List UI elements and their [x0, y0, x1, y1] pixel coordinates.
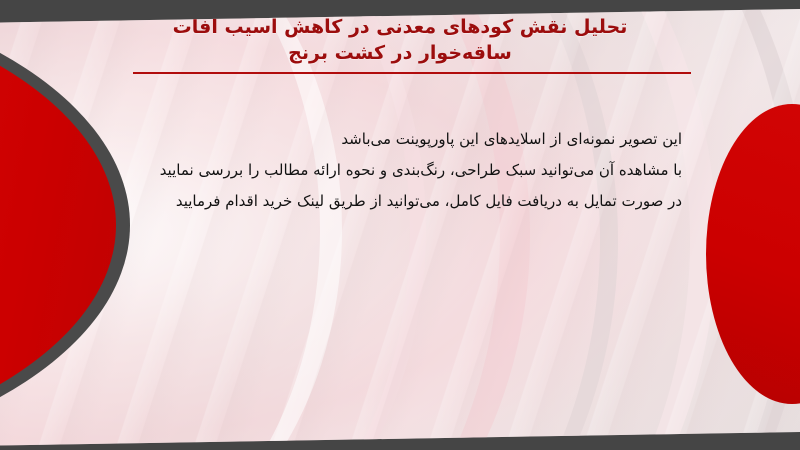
body-line-2: با مشاهده آن می‌توانید سبک طراحی، رنگ‌بن…	[122, 155, 682, 186]
body-line-1: این تصویر نمونه‌ای از اسلایدهای این پاور…	[122, 124, 682, 155]
title-underline-rule	[133, 72, 691, 74]
slide-title-line-1: تحلیل نقش کودهای معدنی در کاهش آسیب آفات	[0, 14, 800, 40]
presentation-slide: تحلیل نقش کودهای معدنی در کاهش آسیب آفات…	[0, 0, 800, 450]
slide-body-text: این تصویر نمونه‌ای از اسلایدهای این پاور…	[122, 124, 682, 217]
slide-content-plate: تحلیل نقش کودهای معدنی در کاهش آسیب آفات…	[0, 0, 800, 450]
body-line-3: در صورت تمایل به دریافت فایل کامل، می‌تو…	[122, 186, 682, 217]
slide-title-line-2: ساقه‌خوار در کشت برنج	[0, 40, 800, 66]
slide-title: تحلیل نقش کودهای معدنی در کاهش آسیب آفات…	[0, 14, 800, 66]
